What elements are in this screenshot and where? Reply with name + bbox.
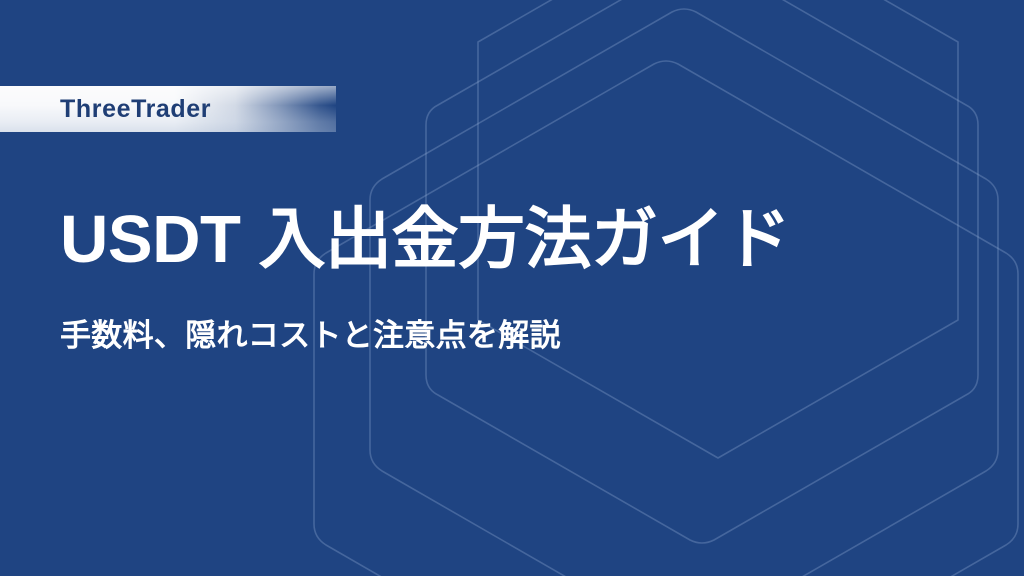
page-subtitle: 手数料、隠れコストと注意点を解説 — [60, 273, 990, 354]
headline-block: USDT 入出金方法ガイド 手数料、隠れコストと注意点を解説 — [60, 206, 990, 354]
page-title: USDT 入出金方法ガイド — [60, 206, 990, 273]
brand-badge: ThreeTrader — [0, 86, 336, 132]
title-slide: ThreeTrader USDT 入出金方法ガイド 手数料、隠れコストと注意点を… — [0, 0, 1024, 576]
brand-name: ThreeTrader — [60, 95, 211, 124]
